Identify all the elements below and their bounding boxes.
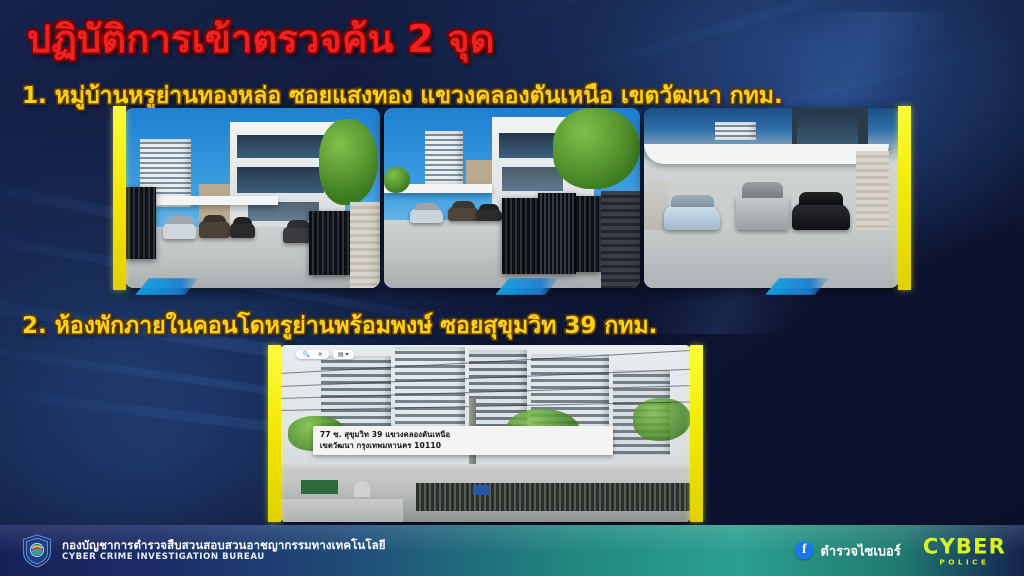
facebook-icon[interactable] (795, 542, 813, 560)
accent-bar-right (898, 106, 911, 290)
photo-luxury-cars-carport[interactable] (644, 108, 899, 288)
photo-luxury-house-gate[interactable] (384, 108, 639, 288)
photo-condo-streetview[interactable]: 77 ซ. สุขุมวิท 39 แขวงคลองตันเหนือเขตวัฒ… (280, 345, 691, 522)
photo-luxury-house-front[interactable] (125, 108, 380, 288)
page-title: ปฏิบัติการเข้าตรวจค้น 2 จุด (27, 8, 495, 69)
photo-toolbar-pill[interactable]: 🔍 ✕ (296, 350, 329, 359)
address-line-1: 77 ซ. สุขุมวิท 39 แขวงคลองตันเหนือ (320, 430, 450, 439)
facebook-page-name: ตำรวจไซเบอร์ (820, 540, 901, 561)
footer-bar: กองบัญชาการตำรวจสืบสวนสอบสวนอาชญากรรมทาง… (0, 525, 1024, 576)
accent-bar-right-2 (690, 345, 703, 522)
photo-toolbar-pill-2[interactable]: ▤ ▾ (333, 350, 354, 359)
section-1-photo-row (113, 106, 911, 290)
slide-stage: ปฏิบัติการเข้าตรวจค้น 2 จุด 1. หมู่บ้านห… (0, 0, 1024, 576)
footer-social: ตำรวจไซเบอร์ CYBER POLICE (795, 536, 1006, 565)
facebook-page-link[interactable]: ตำรวจไซเบอร์ (795, 540, 901, 561)
close-icon[interactable]: ✕ (318, 351, 323, 358)
chevron-down-icon[interactable]: ▾ (346, 351, 349, 358)
footer-organization: กองบัญชาการตำรวจสืบสวนสอบสวนอาชญากรรมทาง… (22, 534, 386, 568)
accent-bar-left (113, 106, 126, 290)
search-icon[interactable]: 🔍 (302, 351, 309, 358)
address-plate: 77 ซ. สุขุมวิท 39 แขวงคลองตันเหนือเขตวัฒ… (313, 426, 613, 455)
cyber-police-logo-main: CYBER (923, 536, 1006, 557)
accent-bar-left-2 (268, 345, 281, 522)
section-2-photo-row: 77 ซ. สุขุมวิท 39 แขวงคลองตันเหนือเขตวัฒ… (268, 345, 703, 522)
address-line-2: เขตวัฒนา กรุงเทพมหานคร 10110 (320, 441, 441, 450)
photo-toolbar[interactable]: 🔍 ✕ ▤ ▾ (296, 350, 353, 359)
organization-name-english: CYBER CRIME INVESTIGATION BUREAU (62, 552, 386, 562)
organization-name-thai: กองบัญชาการตำรวจสืบสวนสอบสวนอาชญากรรมทาง… (62, 539, 386, 553)
section-2-heading: 2. ห้องพักภายในคอนโดหรูย่านพร้อมพงษ์ ซอย… (22, 308, 657, 344)
cyber-police-logo-sub: POLICE (923, 558, 1006, 565)
camera-icon[interactable]: ▤ (338, 351, 344, 358)
cyber-police-logo: CYBER POLICE (923, 536, 1006, 565)
police-shield-badge-icon (22, 534, 52, 568)
